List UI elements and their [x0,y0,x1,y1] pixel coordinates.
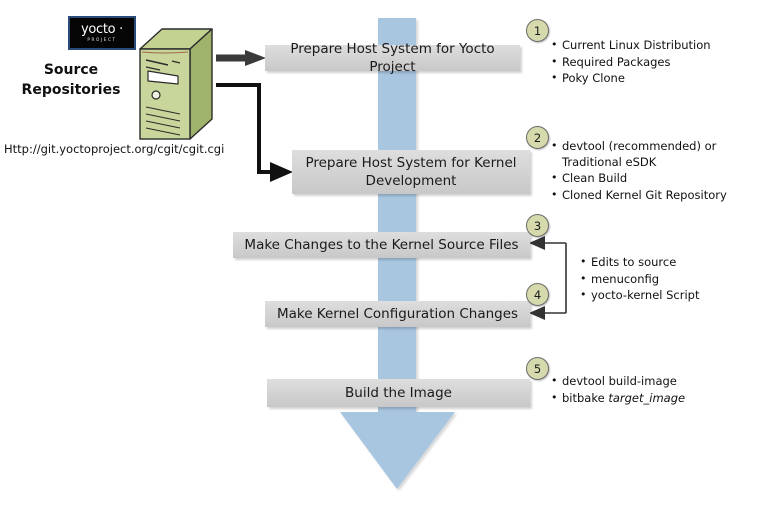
step-number-1: 1 [526,19,549,42]
step-number-4: 4 [526,283,549,306]
process-box-step1[interactable]: Prepare Host System for Yocto Project [265,45,520,71]
process-box-step5[interactable]: Build the Image [267,379,530,407]
note-item: bitbake target_image [551,391,766,407]
note-item-emphasis: target_image [608,391,685,405]
notes-list-step2: devtool (recommended) or Traditional eSD… [551,139,766,203]
process-box-step3[interactable]: Make Changes to the Kernel Source Files [233,232,530,258]
notes-list-step5: devtool build-imagebitbake target_image [551,374,766,406]
step-number-5: 5 [526,357,549,380]
arrow-server-to-step1 [216,50,266,66]
process-box-step4[interactable]: Make Kernel Configuration Changes [265,301,530,327]
note-item: Clean Build [551,171,766,187]
diagram-canvas: yocto · PROJECT Source Repositories Http… [0,0,769,517]
note-item: Current Linux Distribution [551,38,766,54]
note-item: Edits to source [580,255,765,271]
notes-list-step3-step4: Edits to sourcemenuconfigyocto-kernel Sc… [580,255,765,304]
notes-step1: Current Linux DistributionRequired Packa… [551,38,766,88]
step-number-2: 2 [526,126,549,149]
note-item: Cloned Kernel Git Repository [551,188,766,204]
note-item: devtool build-image [551,374,766,390]
note-item: yocto-kernel Script [580,288,765,304]
process-box-step2[interactable]: Prepare Host System for Kernel Developme… [292,150,530,194]
notes-step3-step4: Edits to sourcemenuconfigyocto-kernel Sc… [580,255,765,305]
step-number-3: 3 [526,214,549,237]
note-item: Poky Clone [551,71,766,87]
notes-step5: devtool build-imagebitbake target_image [551,374,766,407]
note-item: Required Packages [551,55,766,71]
notes-list-step1: Current Linux DistributionRequired Packa… [551,38,766,87]
arrow-server-to-step2 [216,85,293,182]
notes-step2: devtool (recommended) or Traditional eSD… [551,139,766,204]
bracket-notes-to-step3-step4 [529,236,566,320]
note-item: devtool (recommended) or Traditional eSD… [551,139,766,170]
note-item: menuconfig [580,272,765,288]
